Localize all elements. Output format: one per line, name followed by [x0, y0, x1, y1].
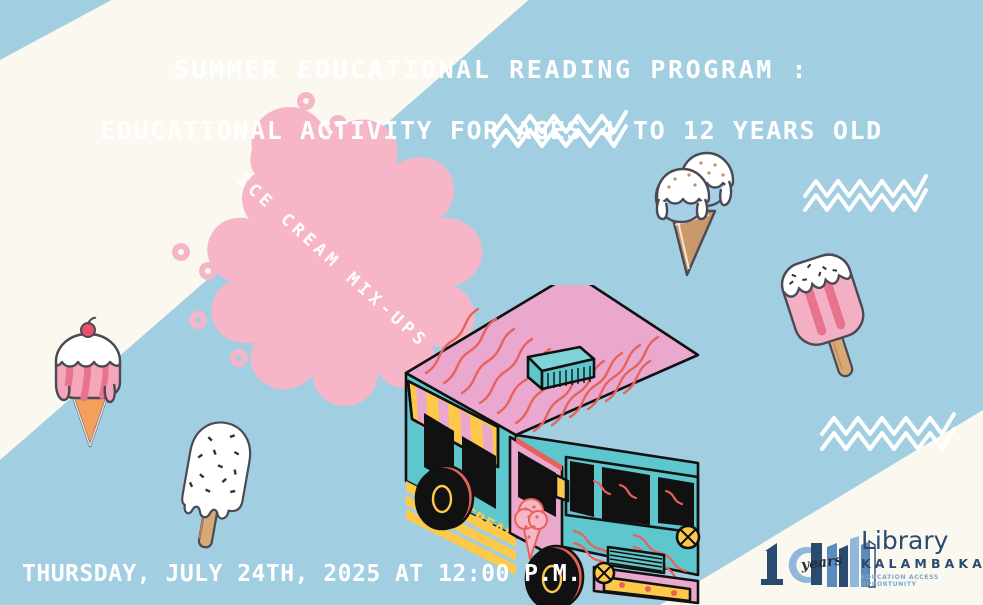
popsicle-white	[163, 414, 268, 554]
library-logo: years Library KALAMBAKA EDUCATION ACCESS…	[757, 529, 969, 591]
ice-cream-truck: ICE CREAM	[398, 285, 728, 605]
logo-library-text: Library	[861, 528, 973, 553]
popsicle-pink	[772, 243, 882, 383]
ice-cream-cone-pink	[26, 316, 136, 451]
poster-canvas: ICE CREAM MIX-UPS	[0, 0, 983, 605]
logo-tagline-text: EDUCATION ACCESS OPPORTUNITY	[861, 574, 973, 588]
event-datetime: THURSDAY, JULY 24TH, 2025 AT 12:00 P.M.	[22, 561, 582, 587]
headline-line-1: SUMMER EDUCATIONAL READING PROGRAM :	[0, 55, 983, 86]
logo-location-text: KALAMBAKA	[861, 556, 973, 571]
page-title: SUMMER EDUCATIONAL READING PROGRAM : EDU…	[0, 24, 983, 177]
headline-line-2: EDUCATIONAL ACTIVITY FOR AGES 4 TO 12 YE…	[0, 116, 983, 147]
